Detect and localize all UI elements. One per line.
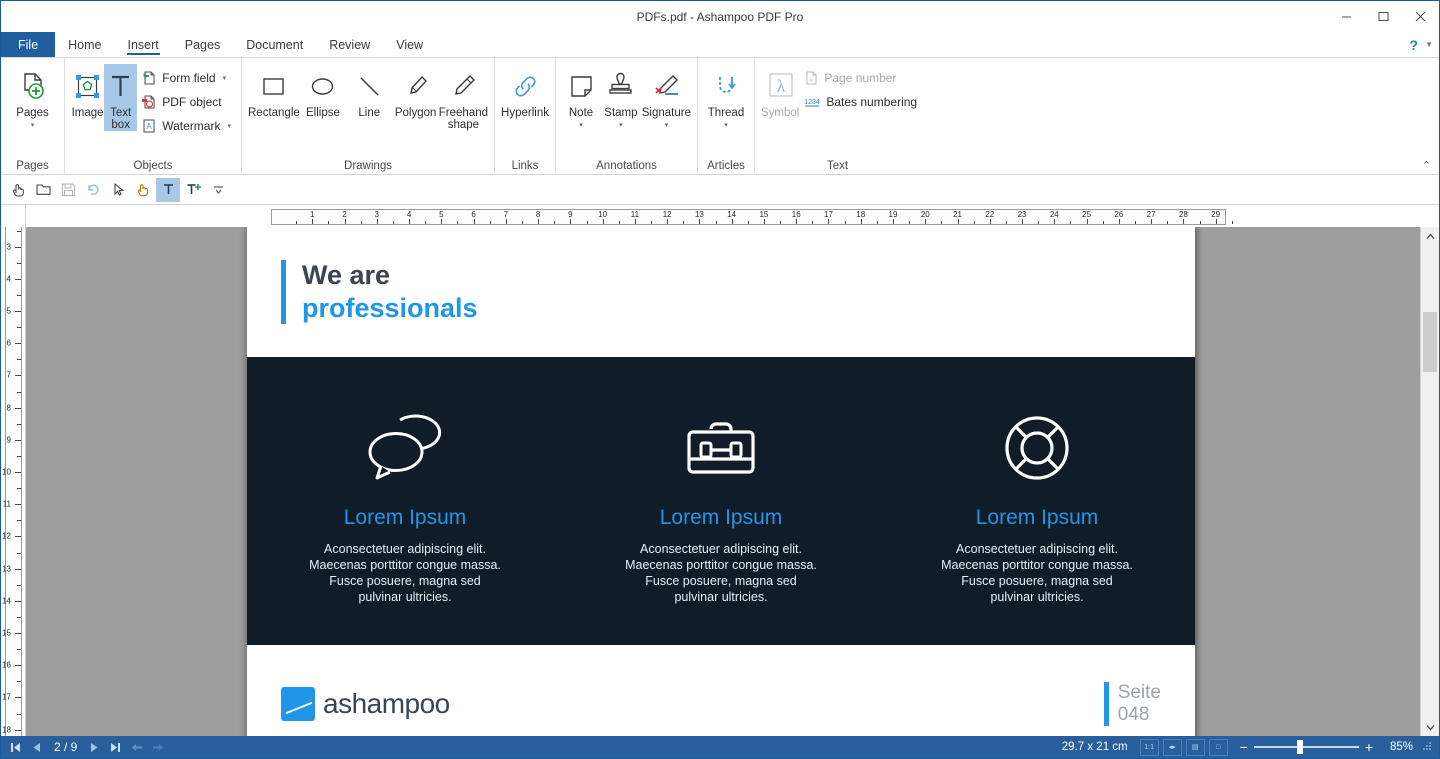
help-chevron-down-icon[interactable]: ▼ [1425, 40, 1433, 49]
ruler-label: 15 [2, 629, 11, 638]
ruler-label: 8 [7, 403, 11, 412]
ruler-tick [958, 219, 959, 224]
insert-thread-button[interactable]: Thread ▾ [704, 64, 748, 132]
polygon-pen-icon [400, 68, 431, 104]
minimize-button[interactable] [1328, 1, 1365, 32]
ruler-label: 13 [695, 210, 704, 219]
navigate-forward-icon[interactable] [147, 737, 168, 757]
hero-line-1: We are [302, 259, 478, 292]
insert-hyperlink-button[interactable]: Hyperlink [501, 64, 549, 119]
ruler-tick-minor [587, 221, 588, 224]
ruler-label: 10 [2, 468, 11, 477]
ashampoo-logo-text: ashampoo [323, 688, 450, 720]
ruler-label: 28 [1179, 210, 1188, 219]
insert-pages-label: Pages [16, 107, 49, 119]
ruler-tick [15, 343, 21, 344]
feature-card: Lorem Ipsum Aconsectetuer adipiscing eli… [879, 402, 1195, 605]
insert-text-box-button[interactable]: Text box [104, 64, 137, 131]
feature-card-body: Aconsectetuer adipiscing elit. Maecenas … [623, 541, 819, 605]
ruler-label: 25 [1082, 210, 1091, 219]
svg-text:λ: λ [776, 76, 785, 96]
insert-note-button[interactable]: Note ▾ [562, 64, 600, 132]
ruler-label: 2 [342, 210, 346, 219]
ashampoo-logo-mark-icon [281, 687, 315, 721]
ruler-tick-minor [554, 221, 555, 224]
application-window: PDFs.pdf - Ashampoo PDF Pro File Home In… [0, 0, 1440, 759]
ruler-tick-minor [296, 221, 297, 224]
ruler-label: 17 [2, 693, 11, 702]
insert-signature-button[interactable]: Signature ▾ [642, 64, 691, 132]
form-field-chevron-down-icon[interactable]: ▾ [223, 74, 227, 82]
vertical-ruler[interactable]: 3456789101112131415161718 [1, 227, 26, 736]
ruler-tick [15, 279, 21, 280]
ruler-tick [474, 219, 475, 224]
scrollbar-thumb[interactable] [1423, 312, 1437, 372]
ruler-tick [1119, 219, 1120, 224]
ruler-tick-minor [683, 221, 684, 224]
feature-card: Lorem Ipsum Aconsectetuer adipiscing eli… [247, 402, 563, 605]
ruler-label: 11 [631, 210, 639, 219]
insert-image-button[interactable]: Image [71, 64, 104, 119]
ruler-tick-minor [17, 295, 21, 296]
ruler-label: 7 [504, 210, 508, 219]
ruler-tick-minor [716, 221, 717, 224]
page-number-text: Seite 048 [1118, 682, 1161, 726]
collapse-ribbon-button[interactable]: ⌃ [1422, 159, 1431, 172]
ruler-label: 1 [310, 210, 314, 219]
ribbon-group-title-annotations: Annotations [556, 158, 697, 175]
insert-page-number-button[interactable]: # Page number [799, 67, 921, 89]
single-page-view-button[interactable]: ▤ [1186, 739, 1205, 756]
note-chevron-down-icon[interactable]: ▾ [579, 120, 583, 132]
ruler-label: 18 [856, 210, 865, 219]
insert-note-label: Note [569, 107, 593, 119]
briefcase-icon [681, 402, 761, 494]
text-small-buttons: # Page number 1234 Bates numbering [799, 64, 921, 113]
draw-line-button[interactable]: Line [346, 64, 392, 119]
ruler-label: 13 [2, 564, 11, 573]
ruler-label: 12 [2, 532, 11, 541]
insert-stamp-button[interactable]: Stamp ▾ [600, 64, 642, 132]
zoom-out-button[interactable]: − [1240, 740, 1248, 754]
ruler-tick-minor [17, 359, 21, 360]
ruler-label: 23 [1018, 210, 1027, 219]
window-controls [1328, 1, 1439, 32]
undo-icon[interactable] [81, 178, 105, 202]
tab-home[interactable]: Home [55, 32, 114, 57]
ruler-tick [377, 219, 378, 224]
signature-chevron-down-icon[interactable]: ▾ [665, 120, 669, 132]
ruler-tick [1151, 219, 1152, 224]
ribbon-tab-bar: File Home Insert Pages Document Review V… [1, 32, 1439, 58]
ribbon-group-annotations: Note ▾ Stamp ▾ [555, 58, 697, 175]
ruler-tick-minor [17, 424, 21, 425]
ruler-tick [15, 375, 21, 376]
ruler-label: 7 [7, 371, 11, 380]
ruler-label: 20 [921, 210, 930, 219]
ruler-tick [828, 219, 829, 224]
ruler-tick-minor [1167, 221, 1168, 224]
resize-grip-icon[interactable] [1421, 741, 1435, 753]
ruler-tick [15, 569, 21, 570]
ruler-tick [15, 730, 21, 731]
insert-pages-button[interactable]: Pages ▾ [7, 64, 58, 132]
ruler-corner [1, 205, 26, 227]
ruler-tick-minor [17, 649, 21, 650]
ruler-tick [15, 311, 21, 312]
ruler-tick [570, 219, 571, 224]
signature-icon [652, 68, 681, 104]
ruler-tick-minor [845, 221, 846, 224]
feature-card-title: Lorem Ipsum [344, 506, 467, 530]
ruler-tick-minor [1038, 221, 1039, 224]
ruler-tick [1022, 219, 1023, 224]
page-size-label: 29.7 x 21 cm [1062, 741, 1140, 753]
vertical-ruler-scale: 3456789101112131415161718 [5, 227, 22, 736]
ruler-label: 15 [759, 210, 768, 219]
ruler-label: 16 [2, 661, 11, 670]
draw-ellipse-button[interactable]: Ellipse [300, 64, 346, 119]
ruler-label: 12 [663, 210, 672, 219]
draw-freehand-shape-button[interactable]: Freehand shape [439, 64, 488, 131]
ruler-tick [732, 219, 733, 224]
help-icon[interactable]: ? [1410, 37, 1419, 53]
ruler-tick [15, 536, 21, 537]
speech-bubbles-icon [362, 402, 448, 494]
stamp-chevron-down-icon[interactable]: ▾ [619, 120, 623, 132]
thread-chevron-down-icon[interactable]: ▾ [724, 120, 728, 132]
page-number-icon: # [803, 70, 819, 86]
ruler-tick [345, 219, 346, 224]
text-box-icon [105, 68, 136, 104]
pdf-page[interactable]: We are professionals [247, 227, 1195, 736]
ruler-label: 19 [889, 210, 898, 219]
ruler-tick [409, 219, 410, 224]
ruler-label: 3 [7, 242, 11, 251]
hero-heading: We are professionals [302, 259, 478, 325]
save-icon[interactable] [56, 178, 80, 202]
page-add-icon [17, 68, 48, 104]
ruler-tick-minor [425, 221, 426, 224]
ruler-tick-minor [17, 392, 21, 393]
ruler-label: 14 [727, 210, 736, 219]
last-page-icon[interactable] [105, 737, 126, 757]
draw-ellipse-label: Ellipse [306, 107, 340, 119]
fit-page-view-button[interactable]: □ [1209, 739, 1228, 756]
ruler-tick-minor [812, 221, 813, 224]
insert-stamp-label: Stamp [604, 107, 637, 119]
ruler-tick [15, 697, 21, 698]
insert-pdf-object-label: PDF object [162, 95, 221, 109]
ashampoo-logo: ashampoo [281, 687, 450, 721]
draw-rectangle-label: Rectangle [248, 107, 300, 119]
ruler-tick-minor [941, 221, 942, 224]
ribbon-group-title-articles: Articles [698, 158, 754, 175]
page-number-accent-bar [1104, 682, 1109, 726]
ruler-label: 4 [7, 274, 11, 283]
zoom-in-button[interactable]: + [1365, 740, 1373, 754]
navigate-back-icon[interactable] [126, 737, 147, 757]
ruler-tick [764, 219, 765, 224]
ruler-tick-minor [490, 221, 491, 224]
ruler-tick [506, 219, 507, 224]
page-indicator[interactable]: 2 / 9 [47, 740, 84, 754]
ruler-tick-minor [1103, 221, 1104, 224]
tab-insert[interactable]: Insert [115, 32, 172, 57]
ruler-label: 14 [2, 596, 11, 605]
ruler-tick-minor [17, 488, 21, 489]
insert-watermark-button[interactable]: A Watermark ▾ [137, 115, 235, 137]
horizontal-ruler-scale: 1234567891011121314151617181920212223242… [271, 209, 1226, 225]
zoom-level-label: 85% [1379, 741, 1413, 753]
ruler-tick [1183, 219, 1184, 224]
ruler-tick [861, 219, 862, 224]
draw-rectangle-button[interactable]: Rectangle [248, 64, 300, 119]
draw-line-label: Line [358, 107, 380, 119]
main-content-row: 3456789101112131415161718 We are profess… [1, 227, 1439, 736]
horizontal-ruler[interactable]: 1234567891011121314151617181920212223242… [26, 205, 1439, 227]
insert-watermark-label: Watermark [162, 119, 220, 133]
ruler-tick-minor [974, 221, 975, 224]
insert-text-box-label: Text box [104, 107, 137, 131]
ruler-tick [15, 440, 21, 441]
feature-card-body: Aconsectetuer adipiscing elit. Maecenas … [939, 541, 1135, 605]
ruler-tick-minor [17, 714, 21, 715]
page-footer: ashampoo Seite 048 [247, 645, 1195, 736]
ruler-tick [15, 504, 21, 505]
ribbon-group-drawings: Rectangle Ellipse Line [241, 58, 494, 175]
touch-mode-icon[interactable] [6, 178, 30, 202]
ruler-tick-minor [17, 263, 21, 264]
scroll-view-button[interactable]: ◂▸ [1163, 739, 1182, 756]
ellipse-icon [307, 68, 338, 104]
feature-card-title: Lorem Ipsum [976, 506, 1099, 530]
next-page-icon[interactable] [84, 737, 105, 757]
hero-accent-bar [281, 260, 286, 324]
ruler-label: 21 [953, 210, 962, 219]
ruler-label: 11 [3, 500, 11, 509]
watermark-chevron-down-icon[interactable]: ▾ [227, 122, 231, 130]
ruler-tick [15, 247, 21, 248]
help-controls: ? ▼ [1410, 32, 1433, 57]
close-button[interactable] [1402, 1, 1439, 32]
ribbon-insert-panel: Pages ▾ Pages [1, 58, 1439, 175]
ribbon-group-title-text: Text [755, 158, 920, 175]
ruler-label: 6 [7, 339, 11, 348]
ruler-tick-minor [328, 221, 329, 224]
ruler-tick-minor [17, 231, 21, 232]
draw-freehand-shape-label: Freehand shape [439, 107, 488, 131]
ruler-label: 8 [536, 210, 540, 219]
ruler-tick [667, 219, 668, 224]
select-arrow-icon[interactable] [106, 178, 130, 202]
insert-form-field-button[interactable]: Form field ▾ [137, 67, 235, 89]
zoom-controls: − + 85% [1232, 740, 1421, 754]
draw-polygon-label: Polygon [395, 107, 437, 119]
previous-page-icon[interactable] [26, 737, 47, 757]
page-number-block: Seite 048 [1104, 682, 1161, 726]
symbol-lambda-icon: λ [765, 68, 796, 104]
ruler-tick-minor [780, 221, 781, 224]
page-number-label: Seite [1118, 682, 1161, 704]
hyperlink-icon [510, 68, 541, 104]
ruler-tick [538, 219, 539, 224]
ruler-tick-minor [17, 681, 21, 682]
ruler-tick [15, 633, 21, 634]
zoom-slider-thumb[interactable] [1297, 740, 1303, 754]
ruler-label: 18 [2, 725, 11, 734]
draw-polygon-button[interactable]: Polygon [392, 64, 438, 119]
ruler-tick-minor [748, 221, 749, 224]
insert-signature-label: Signature [642, 107, 691, 119]
add-text-icon[interactable] [181, 178, 205, 202]
note-icon [567, 68, 596, 104]
pencil-icon [448, 68, 479, 104]
ruler-tick-minor [1135, 221, 1136, 224]
ribbon-group-title-drawings: Drawings [242, 158, 494, 175]
ruler-label: 17 [824, 210, 833, 219]
bates-numbering-icon: 1234 [803, 95, 821, 109]
ruler-tick [1216, 219, 1217, 224]
document-viewport[interactable]: We are professionals [26, 227, 1420, 736]
thread-icon [711, 68, 742, 104]
ruler-tick-minor [1006, 221, 1007, 224]
ruler-tick-minor [619, 221, 620, 224]
tab-view[interactable]: View [383, 32, 436, 57]
ruler-tick-minor [877, 221, 878, 224]
feature-card-body: Aconsectetuer adipiscing elit. Maecenas … [307, 541, 503, 605]
ruler-tick [699, 219, 700, 224]
ruler-tick-minor [17, 553, 21, 554]
ruler-label: 9 [568, 210, 572, 219]
hand-icon[interactable] [131, 178, 155, 202]
ruler-label: 6 [471, 210, 475, 219]
ruler-label: 3 [375, 210, 379, 219]
ruler-tick-minor [457, 221, 458, 224]
ruler-tick [15, 601, 21, 602]
ruler-label: 4 [407, 210, 411, 219]
ruler-tick-minor [17, 617, 21, 618]
ruler-tick [1087, 219, 1088, 224]
page-number-value: 048 [1118, 704, 1161, 726]
watermark-icon: A [141, 118, 157, 134]
insert-bates-numbering-button[interactable]: 1234 Bates numbering [799, 91, 921, 113]
ribbon-group-objects: Image Text box [64, 58, 241, 175]
ruler-tick [635, 219, 636, 224]
ruler-tick [925, 219, 926, 224]
scroll-up-icon[interactable] [1421, 227, 1439, 245]
ruler-label: 29 [1211, 210, 1220, 219]
ruler-tick-minor [17, 327, 21, 328]
actual-size-view-button[interactable]: 1:1 [1140, 739, 1159, 756]
ruler-tick-minor [17, 456, 21, 457]
ruler-tick [15, 665, 21, 666]
ruler-tick [603, 219, 604, 224]
ribbon-group-title-links: Links [495, 158, 555, 175]
ribbon-group-articles: Thread ▾ Articles [697, 58, 754, 175]
page-feature-panel: Lorem Ipsum Aconsectetuer adipiscing eli… [247, 357, 1195, 645]
ruler-tick [15, 472, 21, 473]
insert-hyperlink-label: Hyperlink [501, 107, 549, 119]
insert-bates-numbering-label: Bates numbering [826, 95, 917, 109]
ruler-tick [893, 219, 894, 224]
insert-form-field-label: Form field [162, 71, 215, 85]
insert-symbol-button[interactable]: λ Symbol [761, 64, 799, 119]
ruler-label: 10 [598, 210, 607, 219]
ruler-label: 5 [439, 210, 443, 219]
ruler-label: 24 [1050, 210, 1059, 219]
ruler-tick [441, 219, 442, 224]
tab-document[interactable]: Document [233, 32, 316, 57]
ruler-tick [312, 219, 313, 224]
ruler-label: 26 [1114, 210, 1123, 219]
image-icon [72, 68, 103, 104]
svg-text:1234: 1234 [805, 99, 821, 106]
insert-pages-chevron-down-icon[interactable]: ▾ [31, 120, 35, 132]
title-bar: PDFs.pdf - Ashampoo PDF Pro [1, 1, 1439, 32]
ruler-tick-minor [909, 221, 910, 224]
insert-thread-label: Thread [708, 107, 744, 119]
tab-review[interactable]: Review [316, 32, 383, 57]
status-bar: 2 / 9 29.7 x 21 cm 1:1 ◂▸ ▤ □ − + 85% [1, 736, 1439, 758]
tab-pages[interactable]: Pages [172, 32, 233, 57]
ruler-tick-minor [522, 221, 523, 224]
text-select-icon[interactable] [156, 178, 180, 202]
ruler-label: 5 [7, 307, 11, 316]
page-hero-section: We are professionals [247, 227, 1195, 357]
ruler-tick [796, 219, 797, 224]
objects-small-buttons: Form field ▾ PDF object [137, 64, 235, 137]
ribbon-group-links: Hyperlink Links [494, 58, 555, 175]
insert-symbol-label: Symbol [761, 107, 799, 119]
feature-card-title: Lorem Ipsum [660, 506, 783, 530]
stamp-icon [606, 68, 635, 104]
ruler-tick-minor [393, 221, 394, 224]
ruler-label: 16 [792, 210, 801, 219]
ribbon-group-pages: Pages ▾ Pages [1, 58, 64, 175]
svg-text:A: A [147, 122, 153, 131]
tab-file[interactable]: File [1, 32, 55, 57]
lifebuoy-icon [1001, 402, 1073, 494]
more-tools-icon[interactable] [206, 178, 230, 202]
ruler-tick-minor [1232, 221, 1233, 224]
feature-card: Lorem Ipsum Aconsectetuer adipiscing eli… [563, 402, 879, 605]
ruler-tick-minor [17, 520, 21, 521]
first-page-icon[interactable] [5, 737, 26, 757]
ribbon-group-title-objects: Objects [65, 158, 241, 175]
ruler-label: 27 [1147, 210, 1156, 219]
zoom-slider[interactable] [1254, 740, 1359, 754]
ruler-tick-minor [1070, 221, 1071, 224]
ribbon-group-title-pages: Pages [1, 158, 64, 175]
quick-access-toolbar [1, 175, 1439, 205]
ruler-tick [990, 219, 991, 224]
ruler-tick-minor [361, 221, 362, 224]
scroll-down-icon[interactable] [1421, 718, 1439, 736]
ruler-tick [1054, 219, 1055, 224]
maximize-button[interactable] [1365, 1, 1402, 32]
form-field-icon [141, 70, 157, 86]
insert-image-label: Image [72, 107, 104, 119]
vertical-scrollbar[interactable] [1420, 227, 1439, 736]
horizontal-ruler-row: 1234567891011121314151617181920212223242… [1, 205, 1439, 227]
insert-pdf-object-button[interactable]: PDF object [137, 91, 235, 113]
open-icon[interactable] [31, 178, 55, 202]
ruler-label: 9 [7, 435, 11, 444]
ruler-tick [15, 408, 21, 409]
ruler-label: 22 [985, 210, 994, 219]
rectangle-icon [258, 68, 289, 104]
